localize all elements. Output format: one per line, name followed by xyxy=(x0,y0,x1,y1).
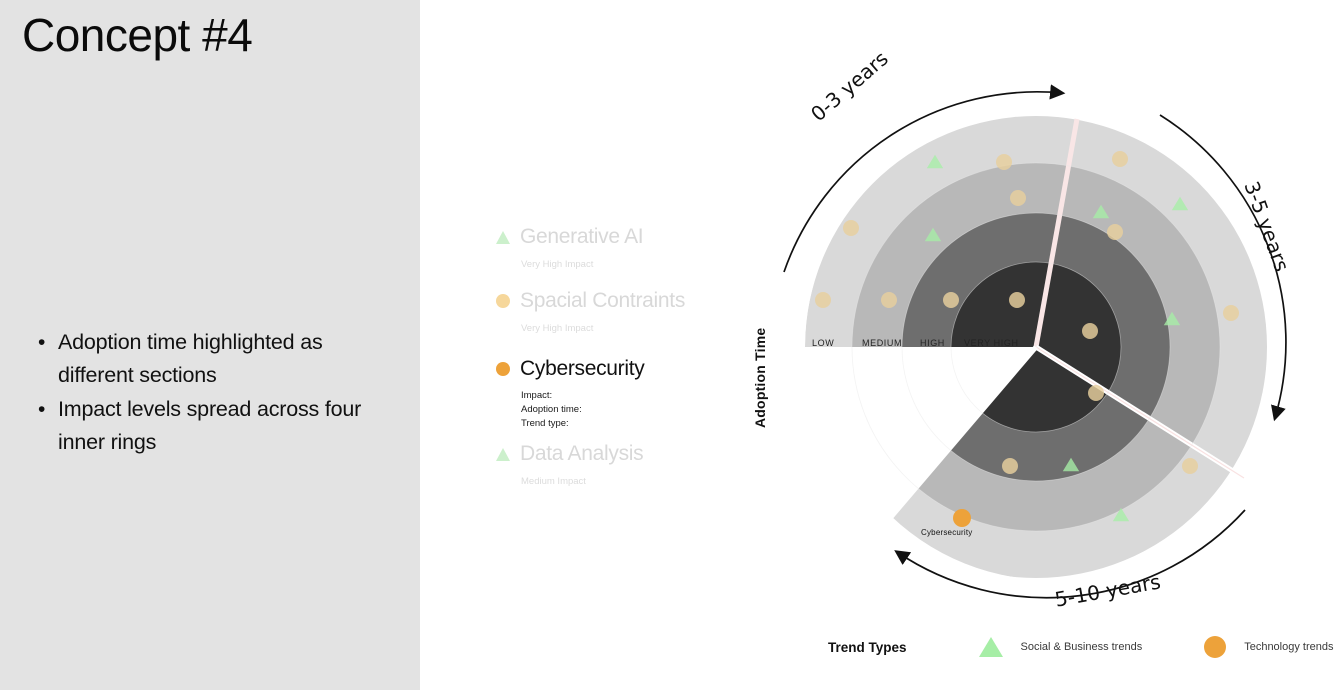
ring-tick-medium: MEDIUM xyxy=(862,338,902,348)
legend-entry-label: Technology trends xyxy=(1244,641,1333,653)
data-point[interactable] xyxy=(1010,190,1026,206)
data-point[interactable] xyxy=(953,509,971,527)
legend-title: Trend Types xyxy=(828,640,907,655)
data-point[interactable] xyxy=(943,292,959,308)
legend-entry-social-business: Social & Business trends xyxy=(979,637,1143,657)
data-point[interactable] xyxy=(881,292,897,308)
ring-tick-very-high: VERY HIGH xyxy=(964,338,1019,348)
ring-tick-high: HIGH xyxy=(920,338,945,348)
data-point[interactable] xyxy=(1182,458,1198,474)
data-point[interactable] xyxy=(1002,458,1018,474)
trend-types-legend: Trend Types Social & Business trends Tec… xyxy=(828,636,1333,658)
data-point[interactable] xyxy=(996,154,1012,170)
data-point[interactable] xyxy=(1009,292,1025,308)
legend-entry-label: Social & Business trends xyxy=(1021,641,1143,653)
data-point[interactable] xyxy=(1082,323,1098,339)
ring-tick-low: LOW xyxy=(812,338,834,348)
data-point[interactable] xyxy=(1112,151,1128,167)
data-point[interactable] xyxy=(1223,305,1239,321)
triangle-icon xyxy=(979,637,1003,657)
data-point[interactable] xyxy=(1107,224,1123,240)
adoption-time-axis-label: Adoption Time xyxy=(752,318,774,438)
legend-entry-technology: Technology trends xyxy=(1204,636,1333,658)
data-point[interactable] xyxy=(815,292,831,308)
circle-icon xyxy=(1204,636,1226,658)
highlighted-point-label: Cybersecurity xyxy=(921,528,973,537)
data-point[interactable] xyxy=(843,220,859,236)
data-point[interactable] xyxy=(1088,385,1104,401)
